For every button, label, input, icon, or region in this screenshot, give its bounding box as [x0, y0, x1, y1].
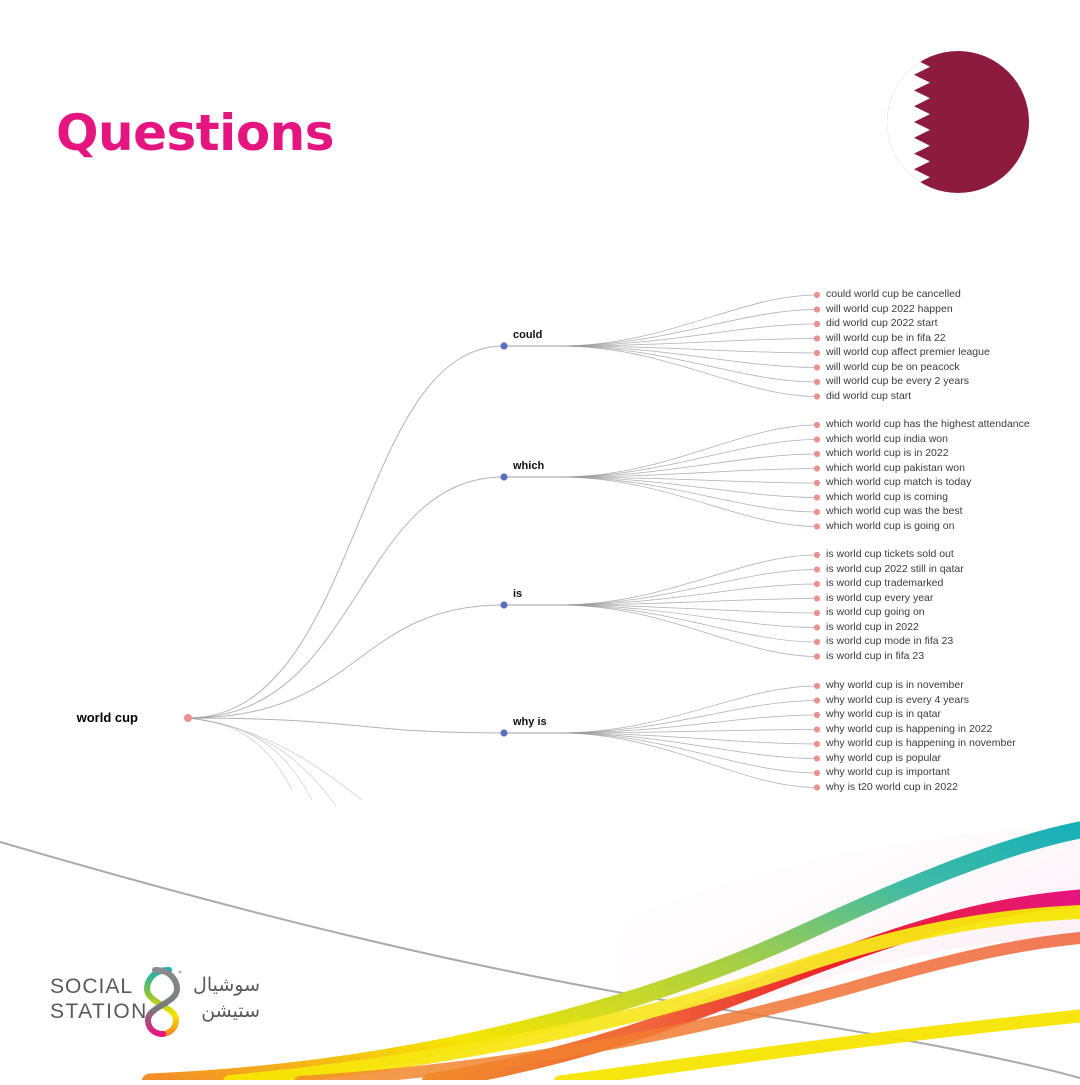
logo-arabic: سوشيال ستيشن	[180, 972, 260, 1024]
tree-leaf-label-1-3: which world cup pakistan won	[826, 463, 965, 474]
tree-leaf-label-1-4: which world cup match is today	[826, 477, 971, 488]
tree-link	[188, 346, 504, 718]
tree-link	[188, 605, 504, 718]
tree-leaf-label-0-3: will world cup be in fifa 22	[826, 333, 946, 344]
tree-leaf-dot-0-5[interactable]	[814, 364, 820, 370]
tree-leaf-label-2-0: is world cup tickets sold out	[826, 549, 954, 560]
tree-leaf-dot-2-2[interactable]	[814, 581, 820, 587]
tree-link-truncated	[188, 718, 362, 800]
tree-leaf-label-2-4: is world cup going on	[826, 607, 925, 618]
tree-link	[559, 605, 817, 642]
logo-arabic-line-1: سوشيال	[180, 972, 260, 998]
tree-leaf-dot-2-5[interactable]	[814, 624, 820, 630]
tree-node-dot-1[interactable]	[500, 473, 507, 480]
tree-leaf-label-2-6: is world cup mode in fifa 23	[826, 636, 953, 647]
tree-leaf-label-3-1: why world cup is every 4 years	[826, 695, 969, 706]
tree-leaf-dot-0-2[interactable]	[814, 321, 820, 327]
logo-line-2: STATION	[50, 999, 148, 1024]
tree-root-label: world cup	[77, 710, 138, 725]
tree-leaf-dot-0-0[interactable]	[814, 292, 820, 298]
tree-node-label-0: could	[513, 329, 542, 341]
infinity-eight-icon	[138, 962, 186, 1040]
tree-link	[559, 570, 817, 606]
tree-link	[188, 718, 504, 733]
tree-leaf-label-0-6: will world cup be every 2 years	[826, 376, 969, 387]
tree-leaf-label-0-5: will world cup be on peacock	[826, 362, 960, 373]
tree-link	[559, 440, 817, 478]
tree-leaf-dot-3-4[interactable]	[814, 741, 820, 747]
tree-leaf-label-2-7: is world cup in fifa 23	[826, 651, 924, 662]
logo-line-1: SOCIAL	[50, 974, 148, 999]
slide-canvas: Questions couldcould world cup be cancel…	[0, 0, 1080, 1080]
tree-link	[559, 477, 817, 527]
tree-link	[559, 295, 817, 346]
tree-leaf-label-3-2: why world cup is in qatar	[826, 709, 941, 720]
tree-link	[559, 733, 817, 788]
tree-leaf-dot-0-3[interactable]	[814, 335, 820, 341]
tree-node-label-1: which	[513, 460, 544, 472]
tree-leaf-dot-0-4[interactable]	[814, 350, 820, 356]
tree-link	[559, 715, 817, 733]
tree-node-dot-0[interactable]	[500, 342, 507, 349]
tree-link	[559, 346, 817, 397]
tree-leaf-label-1-1: which world cup india won	[826, 434, 948, 445]
tree-leaf-label-0-0: could world cup be cancelled	[826, 289, 961, 300]
tree-link	[559, 701, 817, 734]
tree-leaf-dot-1-5[interactable]	[814, 494, 820, 500]
tree-leaf-dot-1-2[interactable]	[814, 451, 820, 457]
tree-leaf-dot-2-6[interactable]	[814, 639, 820, 645]
tree-leaf-dot-1-3[interactable]	[814, 465, 820, 471]
tree-node-label-2: is	[513, 588, 522, 600]
tree-leaf-label-3-5: why world cup is popular	[826, 753, 941, 764]
tree-leaf-dot-1-0[interactable]	[814, 422, 820, 428]
tree-node-dot-3[interactable]	[500, 729, 507, 736]
tree-leaf-dot-3-3[interactable]	[814, 726, 820, 732]
tree-link	[559, 733, 817, 759]
tree-leaf-dot-3-2[interactable]	[814, 712, 820, 718]
logo-wordmark: SOCIAL STATION	[50, 974, 148, 1024]
tree-leaf-label-0-7: did world cup start	[826, 391, 911, 402]
tree-root-dot[interactable]	[184, 714, 192, 722]
tree-leaf-dot-3-0[interactable]	[814, 683, 820, 689]
tree-link	[559, 346, 817, 382]
tree-link	[559, 605, 817, 657]
social-station-logo: SOCIAL STATION سوشيا	[50, 962, 260, 1044]
tree-link	[559, 310, 817, 347]
tree-leaf-dot-2-3[interactable]	[814, 595, 820, 601]
tree-link	[559, 686, 817, 733]
tree-leaf-label-2-5: is world cup in 2022	[826, 622, 919, 633]
tree-link	[188, 477, 504, 718]
tree-leaf-label-0-1: will world cup 2022 happen	[826, 304, 953, 315]
tree-leaf-dot-2-0[interactable]	[814, 552, 820, 558]
tree-leaf-dot-0-7[interactable]	[814, 393, 820, 399]
tree-leaf-label-0-4: will world cup affect premier league	[826, 347, 990, 358]
tree-link	[559, 555, 817, 605]
tree-node-label-3: why is	[513, 716, 547, 728]
tree-leaf-label-3-4: why world cup is happening in november	[826, 738, 1016, 749]
tree-leaf-label-1-2: which world cup is in 2022	[826, 448, 949, 459]
tree-leaf-dot-3-5[interactable]	[814, 755, 820, 761]
tree-leaf-dot-1-4[interactable]	[814, 480, 820, 486]
tree-leaf-dot-3-1[interactable]	[814, 697, 820, 703]
tree-leaf-label-3-3: why world cup is happening in 2022	[826, 724, 992, 735]
tree-leaf-label-2-1: is world cup 2022 still in qatar	[826, 564, 964, 575]
tree-leaf-dot-1-1[interactable]	[814, 436, 820, 442]
tree-leaf-dot-3-6[interactable]	[814, 770, 820, 776]
tree-link-truncated	[188, 718, 312, 800]
tree-leaf-label-1-5: which world cup is coming	[826, 492, 948, 503]
logo-arabic-line-2: ستيشن	[180, 998, 260, 1024]
tree-leaf-label-2-3: is world cup every year	[826, 593, 933, 604]
tree-leaf-label-2-2: is world cup trademarked	[826, 578, 943, 589]
tree-link-truncated	[188, 718, 336, 806]
tree-leaf-dot-1-7[interactable]	[814, 523, 820, 529]
tree-leaf-label-3-0: why world cup is in november	[826, 680, 964, 691]
tree-leaf-dot-2-4[interactable]	[814, 610, 820, 616]
tree-leaf-dot-2-1[interactable]	[814, 566, 820, 572]
tree-leaf-label-3-7: why is t20 world cup in 2022	[826, 782, 958, 793]
tree-link	[559, 733, 817, 773]
tree-leaf-label-1-6: which world cup was the best	[826, 506, 963, 517]
tree-leaf-label-3-6: why world cup is important	[826, 767, 950, 778]
tree-node-dot-2[interactable]	[500, 601, 507, 608]
tree-leaf-label-1-7: which world cup is going on	[826, 521, 954, 532]
tree-leaf-label-0-2: did world cup 2022 start	[826, 318, 937, 329]
tree-leaf-dot-3-7[interactable]	[814, 784, 820, 790]
tree-leaf-dot-1-6[interactable]	[814, 509, 820, 515]
tree-leaf-dot-0-1[interactable]	[814, 306, 820, 312]
tree-link-truncated	[188, 718, 292, 790]
tree-leaf-dot-2-7[interactable]	[814, 653, 820, 659]
tree-leaf-dot-0-6[interactable]	[814, 379, 820, 385]
tree-leaf-label-1-0: which world cup has the highest attendan…	[826, 419, 1030, 430]
tree-link	[559, 477, 817, 498]
